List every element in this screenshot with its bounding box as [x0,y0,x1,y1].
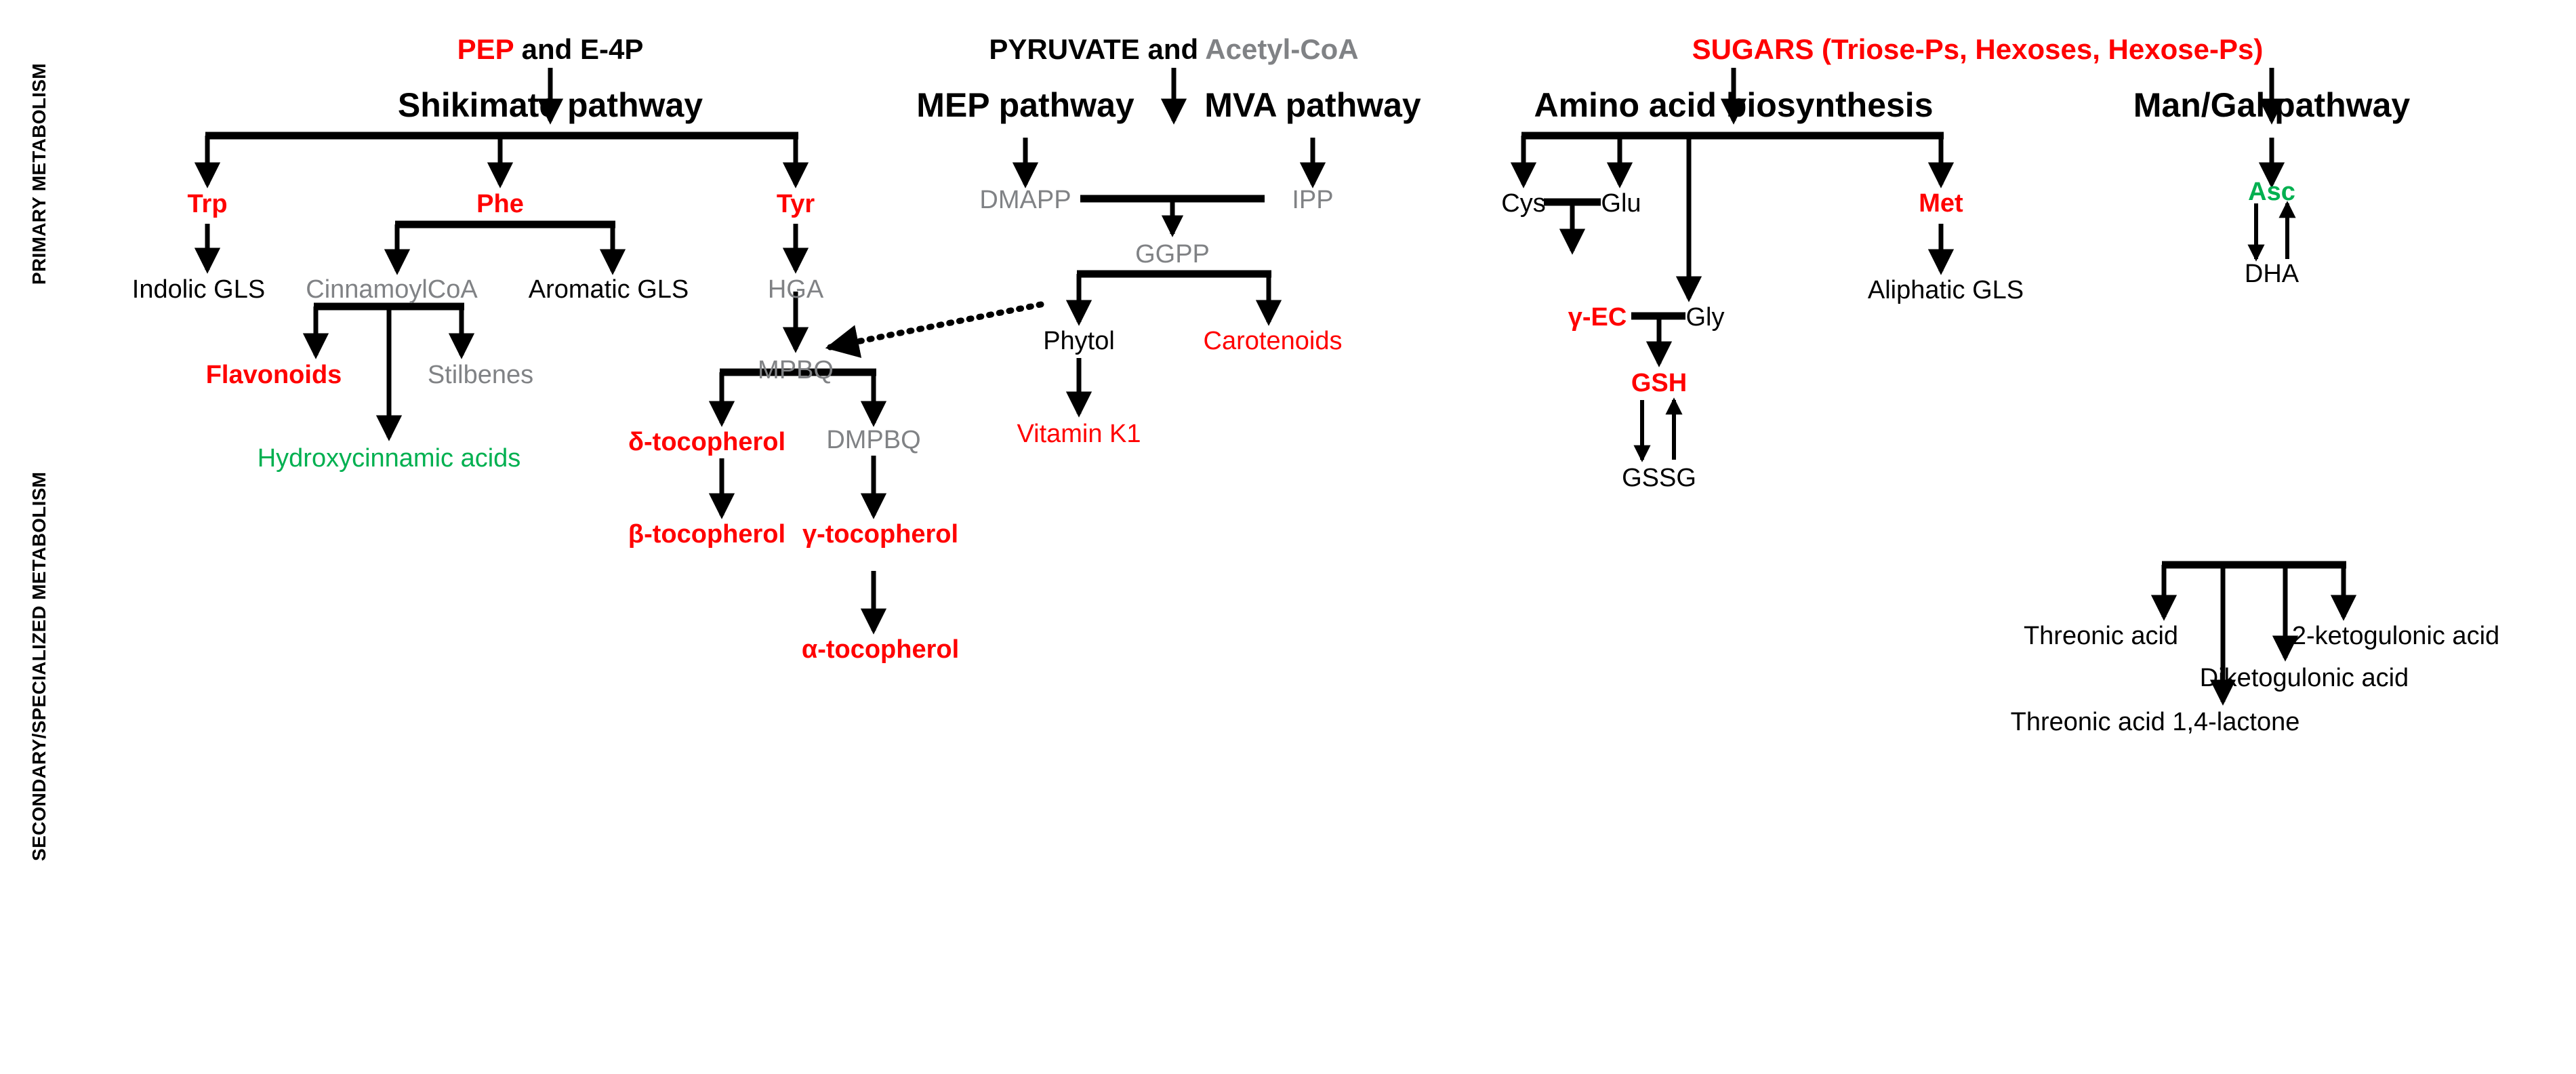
node-beta-tocopherol: β-tocopherol [628,521,785,547]
node-dmpbq: DMPBQ [826,427,920,453]
node-hga: HGA [768,277,823,302]
node-stilbenes: Stilbenes [428,362,533,388]
node-2-ketogulonic-acid: 2-ketogulonic acid [2292,623,2499,649]
node-gamma-ec: γ-EC [1568,304,1627,330]
pathway-diagram-canvas: PRIMARY METABOLISM SECONDARY/SPECIALIZED… [0,0,2576,1074]
node-aliphatic-gls: Aliphatic GLS [1868,277,2024,303]
node-phe: Phe [476,191,524,217]
node-diketogulonic-acid: Diketogulonic acid [2200,665,2409,691]
node-mpbq: MPBQ [758,357,834,383]
node-pep-label: PEP [457,33,514,65]
node-cys: Cys [1501,191,1545,216]
node-indolic-gls: Indolic GLS [132,277,265,302]
node-mva-pathway: MVA pathway [1204,88,1420,122]
node-amino-acid-biosynthesis: Amino acid biosynthesis [1534,88,1933,122]
node-phytol: Phytol [1043,328,1115,354]
node-sugars: SUGARS (Triose-Ps, Hexoses, Hexose-Ps) [1692,35,2264,64]
node-flavonoids: Flavonoids [206,362,342,388]
node-dmapp: DMAPP [979,187,1071,213]
node-dha: DHA [2245,261,2299,287]
node-pyruvate-label: PYRUVATE and [989,33,1205,65]
node-gsh: GSH [1631,370,1687,396]
node-met: Met [1919,191,1963,216]
node-gly: Gly [1686,304,1725,330]
pathway-connectors [0,0,2576,1074]
node-acetylcoa-label: Acetyl-CoA [1205,33,1358,65]
node-shikimate-pathway: Shikimate pathway [398,88,703,122]
node-cinnamoylcoa: CinnamoylCoA [306,277,477,302]
node-carotenoids: Carotenoids [1204,328,1343,354]
node-hydroxycinnamic-acids: Hydroxycinnamic acids [258,445,521,471]
node-mep-pathway: MEP pathway [916,88,1134,122]
node-glu: Glu [1601,191,1641,216]
node-gssg: GSSG [1622,465,1696,491]
node-tyr: Tyr [777,191,815,217]
node-vitamin-k1: Vitamin K1 [1017,421,1141,447]
node-threonic-acid: Threonic acid [2024,623,2178,649]
node-e4p-label: and E-4P [514,33,643,65]
side-label-secondary-metabolism: SECONDARY/SPECIALIZED METABOLISM [28,472,50,861]
node-asc: Asc [2248,179,2295,205]
node-alpha-tocopherol: α-tocopherol [802,637,959,662]
node-ggpp: GGPP [1135,241,1210,267]
side-label-primary-metabolism: PRIMARY METABOLISM [28,63,50,285]
node-ipp: IPP [1292,187,1333,213]
node-pep-e4p: PEP and E-4P [457,35,644,64]
node-aromatic-gls: Aromatic GLS [529,277,689,302]
node-delta-tocopherol: δ-tocopherol [628,429,785,455]
node-mangal-pathway: Man/Gal pathway [2133,88,2410,122]
node-gamma-tocopherol: γ-tocopherol [802,521,958,547]
node-pyruvate-acetylcoa: PYRUVATE and Acetyl-CoA [989,35,1358,64]
node-threonic-acid-lactone: Threonic acid 1,4-lactone [2011,709,2300,735]
node-trp: Trp [187,191,227,217]
